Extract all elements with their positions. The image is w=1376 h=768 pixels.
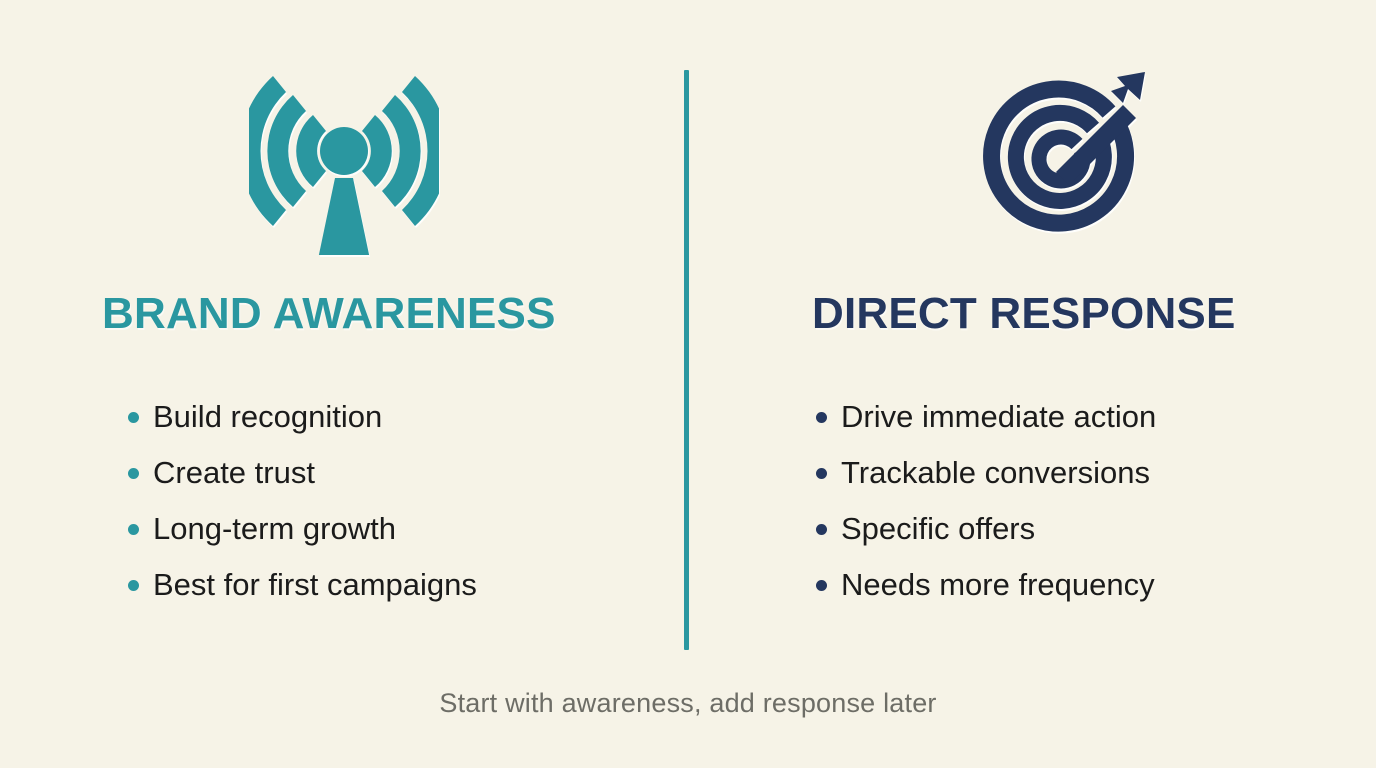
bullet-dot-icon (128, 580, 139, 591)
list-item-label: Long-term growth (153, 513, 396, 544)
column-heading-brand-awareness: BRAND AWARENESS (102, 292, 556, 336)
list-item: Specific offers (816, 500, 1156, 556)
bullet-dot-icon (128, 524, 139, 535)
bullet-list-brand-awareness: Build recognition Create trust Long-term… (128, 388, 477, 612)
column-heading-direct-response: DIRECT RESPONSE (812, 292, 1236, 336)
list-item-label: Best for first campaigns (153, 569, 477, 600)
column-direct-response: DIRECT RESPONSE Drive immediate action T… (688, 0, 1376, 660)
column-brand-awareness: BRAND AWARENESS Build recognition Create… (0, 0, 688, 660)
vertical-divider (684, 70, 689, 650)
list-item-label: Create trust (153, 457, 315, 488)
bullet-list-direct-response: Drive immediate action Trackable convers… (816, 388, 1156, 612)
bullet-dot-icon (816, 468, 827, 479)
list-item-label: Needs more frequency (841, 569, 1155, 600)
bullet-dot-icon (816, 580, 827, 591)
list-item: Best for first campaigns (128, 556, 477, 612)
list-item: Build recognition (128, 388, 477, 444)
list-item: Create trust (128, 444, 477, 500)
list-item-label: Build recognition (153, 401, 382, 432)
list-item-label: Drive immediate action (841, 401, 1156, 432)
bullet-dot-icon (128, 468, 139, 479)
comparison-slide: BRAND AWARENESS Build recognition Create… (0, 0, 1376, 768)
broadcast-tower-icon (0, 60, 726, 260)
list-item: Long-term growth (128, 500, 477, 556)
bullet-dot-icon (128, 412, 139, 423)
list-item-label: Specific offers (841, 513, 1035, 544)
list-item: Trackable conversions (816, 444, 1156, 500)
footer-caption: Start with awareness, add response later (0, 688, 1376, 719)
list-item: Drive immediate action (816, 388, 1156, 444)
bullet-dot-icon (816, 524, 827, 535)
target-arrow-icon (688, 60, 1376, 260)
list-item: Needs more frequency (816, 556, 1156, 612)
list-item-label: Trackable conversions (841, 457, 1150, 488)
bullet-dot-icon (816, 412, 827, 423)
